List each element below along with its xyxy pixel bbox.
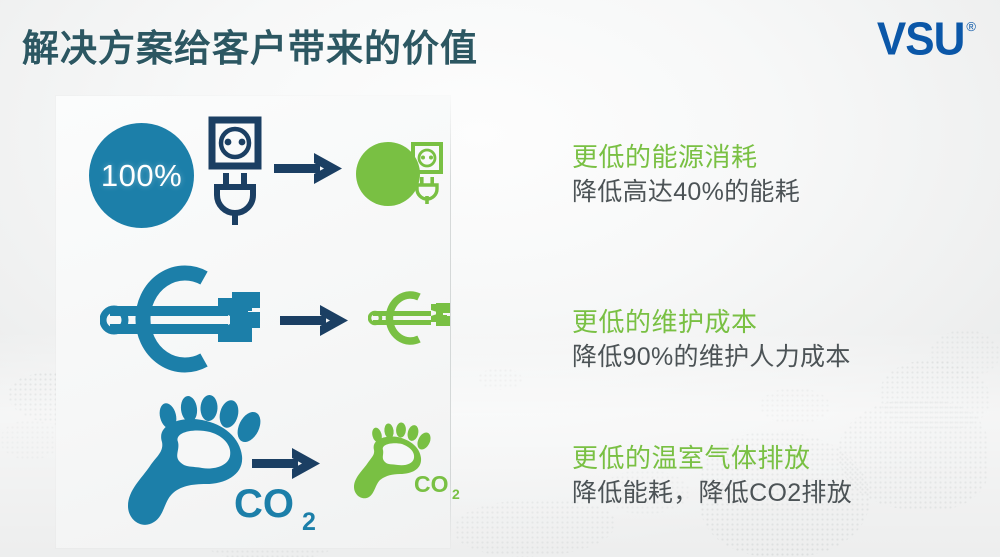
svg-text:2: 2 bbox=[302, 508, 316, 536]
power-socket-plug-icon bbox=[202, 115, 268, 227]
arrow-right-icon bbox=[274, 152, 344, 186]
svg-text:2: 2 bbox=[452, 486, 460, 502]
benefit-text-energy: 更低的能源消耗 降低高达40%的能耗 bbox=[572, 140, 800, 210]
logo-wordmark: VSU bbox=[877, 17, 964, 63]
euro-wrench-icon bbox=[368, 290, 460, 346]
power-socket-plug-icon bbox=[408, 141, 446, 205]
vsu-logo: VSU ® bbox=[877, 18, 976, 62]
svg-text:CO: CO bbox=[234, 482, 294, 526]
arrow-right-icon bbox=[280, 304, 350, 338]
benefit-text-emissions: 更低的温室气体排放 降低能耗，降低CO2排放 bbox=[572, 441, 852, 511]
benefit-subtext: 降低高达40%的能耗 bbox=[572, 176, 800, 210]
registered-trademark-icon: ® bbox=[966, 20, 976, 33]
benefit-heading: 更低的能源消耗 bbox=[572, 140, 800, 174]
percent-circle-blue: 100% bbox=[89, 123, 194, 228]
benefit-row-emissions: CO 2 CO 2 bbox=[56, 392, 450, 542]
carbon-footprint-icon: CO 2 bbox=[348, 422, 468, 506]
benefit-row-maintenance bbox=[56, 262, 450, 382]
benefit-row-energy: 100% bbox=[56, 110, 450, 230]
svg-text:CO: CO bbox=[414, 471, 449, 497]
benefit-subtext: 降低能耗，降低CO2排放 bbox=[572, 477, 852, 511]
benefit-heading: 更低的维护成本 bbox=[572, 305, 851, 339]
benefit-text-maintenance: 更低的维护成本 降低90%的维护人力成本 bbox=[572, 305, 851, 375]
benefit-subtext: 降低90%的维护人力成本 bbox=[572, 341, 851, 375]
euro-wrench-icon bbox=[100, 264, 290, 374]
slide-canvas: 解决方案给客户带来的价值 VSU ® 100% bbox=[0, 0, 1000, 557]
benefit-heading: 更低的温室气体排放 bbox=[572, 441, 852, 475]
page-title: 解决方案给客户带来的价值 bbox=[22, 27, 478, 71]
percent-label: 100% bbox=[101, 158, 182, 194]
arrow-right-icon bbox=[252, 447, 322, 481]
